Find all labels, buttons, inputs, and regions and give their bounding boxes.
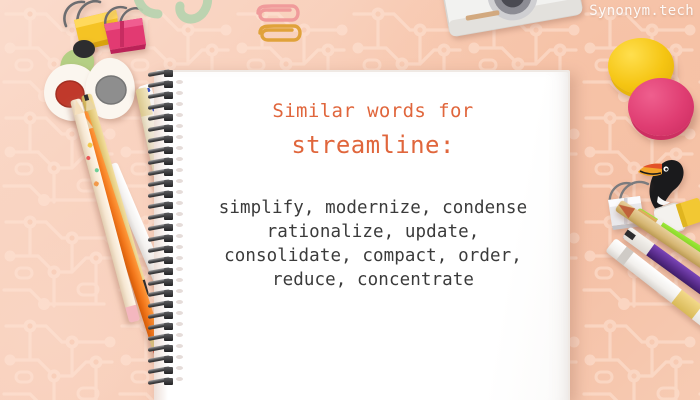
page-headword: streamline: xyxy=(180,131,566,159)
watermark-synonym-tech: Synonym.tech xyxy=(589,3,694,19)
paper-clip-pink-icon xyxy=(250,2,304,24)
synonym-line: reduce, concentrate xyxy=(180,268,566,292)
synonym-line: simplify, modernize, condense xyxy=(180,196,566,220)
macaron-pink xyxy=(628,78,694,136)
synonym-list: simplify, modernize, condense rationaliz… xyxy=(180,196,566,292)
scissors-mint-icon xyxy=(128,0,224,40)
synonym-line: consolidate, compact, order, xyxy=(180,244,566,268)
camera-icon xyxy=(430,0,590,44)
page-title-prefix: Similar words for xyxy=(180,100,566,122)
notebook: Similar words for streamline: simplify, … xyxy=(152,70,572,400)
paper-clip-orange-icon xyxy=(252,22,306,44)
screenshot-root: Similar words for streamline: simplify, … xyxy=(0,0,700,400)
synonym-line: rationalize, update, xyxy=(180,220,566,244)
page-content: Similar words for streamline: simplify, … xyxy=(180,88,566,292)
